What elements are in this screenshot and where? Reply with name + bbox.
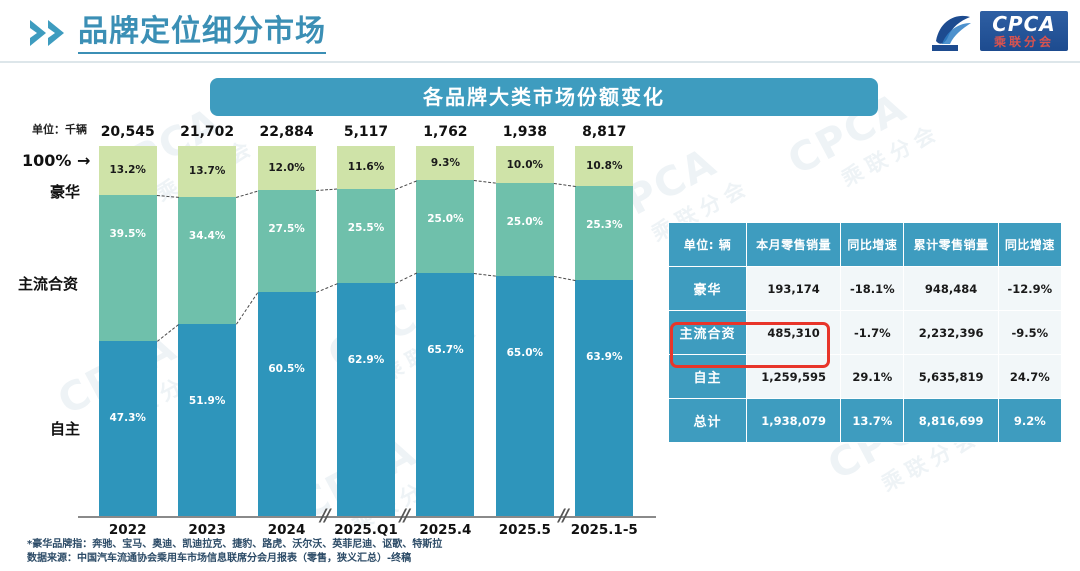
bar-total-label: 20,545 [93, 124, 163, 140]
x-axis-label: 2025.5 [483, 522, 567, 538]
connector-line [395, 180, 417, 189]
connector-line [236, 292, 258, 324]
bar-total-label: 22,884 [252, 124, 322, 140]
bar-segment-label: 25.0% [496, 217, 554, 228]
bar-total-label: 8,817 [569, 124, 639, 140]
x-axis-label: 2025.1-5 [562, 522, 646, 538]
bar-segment-joint-venture: 27.5% [258, 190, 316, 292]
bar-segment-label: 11.6% [337, 162, 395, 173]
bar-segment-label: 51.9% [178, 396, 236, 407]
bar-segment-domestic: 65.7% [416, 273, 474, 516]
bar-segment-domestic: 47.3% [99, 341, 157, 516]
stacked-bar-chart: 单位：千辆 100% → 豪华 主流合资 自主 20,54513.2%39.5%… [0, 118, 660, 538]
cpca-swoosh-icon [930, 11, 978, 51]
table-cell: 9.2% [998, 399, 1061, 443]
double-chevron-right-icon [28, 18, 74, 48]
x-axis-label: 2023 [165, 522, 249, 538]
bar-column: 8,81710.8%25.3%63.9% [575, 146, 633, 516]
table-header-cell: 累计零售销量 [904, 223, 998, 267]
header: 品牌定位细分市场 CPCA 乘联分会 [0, 0, 1080, 62]
bar-segment-label: 25.5% [337, 223, 395, 234]
bar-segment-joint-venture: 25.0% [496, 183, 554, 276]
x-axis-label: 2025.4 [403, 522, 487, 538]
bar-segment-joint-venture: 39.5% [99, 195, 157, 341]
table-cell: 8,816,699 [904, 399, 998, 443]
bar-segment-label: 65.7% [416, 345, 474, 356]
page-title: 品牌定位细分市场 [78, 14, 326, 54]
connector-line [474, 180, 496, 184]
bar-total-label: 5,117 [331, 124, 401, 140]
table-row: 主流合资485,310-1.7%2,232,396-9.5% [669, 311, 1062, 355]
bar-segment-label: 62.9% [337, 355, 395, 366]
connector-line [474, 273, 496, 277]
connector-line [157, 324, 179, 342]
bar-segment-label: 10.8% [575, 161, 633, 172]
connector-line [554, 183, 576, 187]
connector-line [316, 283, 338, 293]
axis-break-icon: // [400, 506, 408, 526]
table-cell: -18.1% [841, 267, 904, 311]
bar-segment-label: 39.5% [99, 229, 157, 240]
table-cell: -1.7% [841, 311, 904, 355]
table-cell: 24.7% [998, 355, 1061, 399]
table-cell: 5,635,819 [904, 355, 998, 399]
table-cell: 948,484 [904, 267, 998, 311]
table-cell: 29.1% [841, 355, 904, 399]
bar-segment-label: 34.4% [178, 231, 236, 242]
bar-column: 1,7629.3%25.0%65.7% [416, 146, 474, 516]
bar-segment-joint-venture: 34.4% [178, 197, 236, 324]
plot-area: 20,54513.2%39.5%47.3%21,70213.7%34.4%51.… [88, 146, 644, 516]
bar-segment-label: 25.0% [416, 214, 474, 225]
connector-line [316, 189, 337, 191]
bar-segment-label: 13.7% [178, 166, 236, 177]
bar-segment-joint-venture: 25.3% [575, 186, 633, 280]
bar-segment-joint-venture: 25.0% [416, 180, 474, 273]
bar-column: 21,70213.7%34.4%51.9% [178, 146, 236, 516]
table-cell: 1,259,595 [747, 355, 841, 399]
table-row-label: 豪华 [669, 267, 747, 311]
bar-column: 1,93810.0%25.0%65.0% [496, 146, 554, 516]
bar-segment-luxury: 13.7% [178, 146, 236, 197]
x-axis-label: 2024 [245, 522, 329, 538]
table-cell: -9.5% [998, 311, 1061, 355]
table-cell: 193,174 [747, 267, 841, 311]
footnote-luxury-brands: *豪华品牌指：奔驰、宝马、奥迪、凯迪拉克、捷豹、路虎、沃尔沃、英菲尼迪、讴歌、特… [27, 538, 442, 552]
cpca-logo: CPCA 乘联分会 [930, 9, 1070, 53]
table-cell: 2,232,396 [904, 311, 998, 355]
x-axis-label: 2025.Q1 [324, 522, 408, 538]
logo-subtext: 乘联分会 [980, 33, 1068, 50]
bar-segment-label: 10.0% [496, 160, 554, 171]
chart-title-pill: 各品牌大类市场份额变化 [210, 78, 878, 116]
logo-box: CPCA 乘联分会 [980, 11, 1068, 51]
table-header-cell: 本月零售销量 [747, 223, 841, 267]
connector-line [554, 276, 576, 281]
table-cell: 1,938,079 [747, 399, 841, 443]
axis-label-joint-venture: 主流合资 [18, 273, 78, 294]
bar-segment-luxury: 12.0% [258, 146, 316, 190]
footnote-data-source: 数据来源：中国汽车流通协会乘用车市场信息联席分会月报表（零售，狭义汇总）-终稿 [27, 552, 442, 566]
table-row: 总计1,938,07913.7%8,816,6999.2% [669, 399, 1062, 443]
bar-segment-label: 47.3% [99, 413, 157, 424]
header-divider [0, 61, 1080, 63]
bar-segment-luxury: 9.3% [416, 146, 474, 180]
bar-segment-label: 13.2% [99, 165, 157, 176]
axis-label-luxury: 豪华 [50, 181, 80, 202]
bar-segment-domestic: 63.9% [575, 280, 633, 516]
bar-segment-label: 65.0% [496, 348, 554, 359]
bar-total-label: 21,702 [172, 124, 242, 140]
bar-segment-label: 12.0% [258, 163, 316, 174]
table-body: 豪华193,174-18.1%948,484-12.9%主流合资485,310-… [669, 267, 1062, 443]
table-cell: -12.9% [998, 267, 1061, 311]
bar-segment-domestic: 60.5% [258, 292, 316, 516]
table-header-cell: 同比增速 [841, 223, 904, 267]
bar-column: 20,54513.2%39.5%47.3% [99, 146, 157, 516]
axis-label-100-percent: 100% → [22, 151, 90, 170]
connector-line [236, 190, 258, 197]
bar-segment-label: 60.5% [258, 364, 316, 375]
table-row-label: 总计 [669, 399, 747, 443]
x-axis-label: 2022 [86, 522, 170, 538]
unit-label: 单位：千辆 [32, 121, 87, 137]
bar-segment-luxury: 11.6% [337, 146, 395, 189]
connector-line [395, 273, 417, 284]
bar-segment-label: 27.5% [258, 224, 316, 235]
table-header-cell: 同比增速 [998, 223, 1061, 267]
connector-line [157, 195, 179, 198]
bar-segment-domestic: 62.9% [337, 283, 395, 516]
axis-label-domestic: 自主 [50, 418, 80, 439]
bar-total-label: 1,938 [490, 124, 560, 140]
bar-segment-label: 9.3% [416, 158, 474, 169]
bar-segment-joint-venture: 25.5% [337, 189, 395, 283]
bar-segment-label: 25.3% [575, 220, 633, 231]
bar-column: 5,11711.6%25.5%62.9% [337, 146, 395, 516]
summary-table: 单位: 辆本月零售销量同比增速累计零售销量同比增速 豪华193,174-18.1… [668, 222, 1062, 443]
bar-segment-luxury: 10.0% [496, 146, 554, 183]
table-row: 豪华193,174-18.1%948,484-12.9% [669, 267, 1062, 311]
bar-segment-label: 63.9% [575, 352, 633, 363]
bar-segment-luxury: 13.2% [99, 146, 157, 195]
bar-segment-domestic: 51.9% [178, 324, 236, 516]
table-header-row: 单位: 辆本月零售销量同比增速累计零售销量同比增速 [669, 223, 1062, 267]
table-cell: 485,310 [747, 311, 841, 355]
slide-root: CPCA乘联分会 CPCA乘联分会 CPCA乘联分会 CPCA乘联分会 CPCA… [0, 0, 1080, 571]
table-row-label: 自主 [669, 355, 747, 399]
axis-break-icon: // [320, 506, 328, 526]
chart-title: 各品牌大类市场份额变化 [210, 78, 878, 116]
axis-break-icon: // [559, 506, 567, 526]
x-axis-line [78, 516, 656, 518]
table-row: 自主1,259,59529.1%5,635,81924.7% [669, 355, 1062, 399]
table-row-label: 主流合资 [669, 311, 747, 355]
bar-segment-luxury: 10.8% [575, 146, 633, 186]
table-cell: 13.7% [841, 399, 904, 443]
footnotes: *豪华品牌指：奔驰、宝马、奥迪、凯迪拉克、捷豹、路虎、沃尔沃、英菲尼迪、讴歌、特… [27, 538, 442, 566]
bar-total-label: 1,762 [410, 124, 480, 140]
table-header-cell: 单位: 辆 [669, 223, 747, 267]
bar-column: 22,88412.0%27.5%60.5% [258, 146, 316, 516]
bar-segment-domestic: 65.0% [496, 276, 554, 517]
